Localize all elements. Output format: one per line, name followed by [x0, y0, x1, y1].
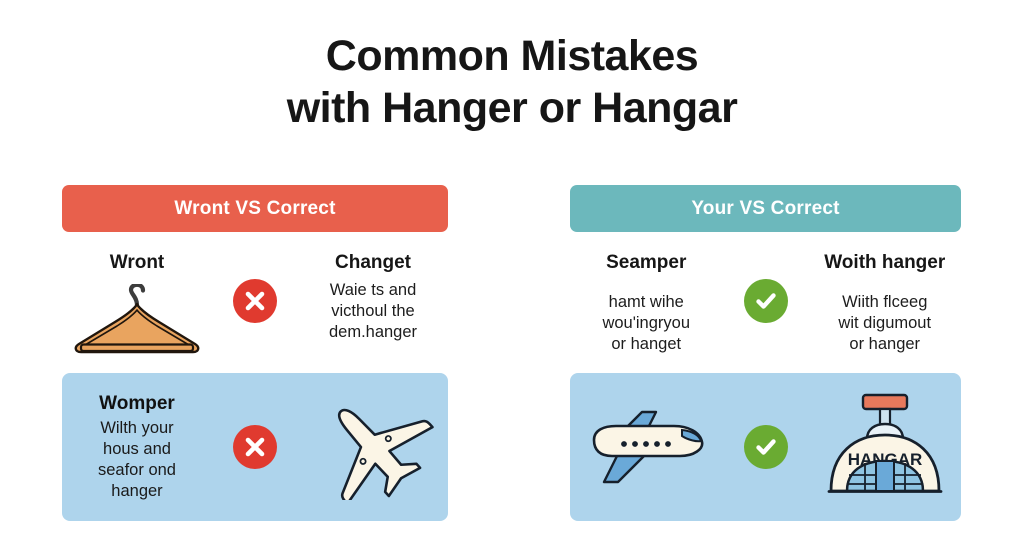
correct-blue-badge-slot — [723, 425, 809, 469]
seamper-heading: Seamper — [606, 252, 686, 274]
column-wrong: Wront VS Correct Wront — [62, 185, 448, 521]
changet-line-3: dem.hanger — [329, 322, 417, 343]
green-check-badge — [744, 425, 788, 469]
wrong-hanger-cell: Wront — [62, 234, 212, 358]
correct-top-badge-slot — [723, 234, 809, 367]
comparison-columns: Wront VS Correct Wront — [0, 185, 1024, 525]
column-correct: Your VS Correct Seamper hamt wihe wou'in… — [570, 185, 961, 521]
red-cross-badge — [233, 279, 277, 323]
womper-line-4: hanger — [98, 481, 176, 502]
column-header-wrong: Wront VS Correct — [62, 185, 448, 232]
page-title: Common Mistakes with Hanger or Hangar — [0, 30, 1024, 134]
hangar-building-icon: HANGAR — [827, 391, 943, 503]
airplane-side-icon — [582, 404, 710, 490]
woith-hanger-cell: Woith hanger Wiith flceeg wit digumout o… — [809, 234, 962, 355]
woith-hanger-heading: Woith hanger — [824, 252, 945, 274]
wrong-blue-card: Womper Wilth your hous and seafor ond ha… — [62, 373, 448, 521]
wrong-hanger-heading: Wront — [110, 252, 165, 274]
seamper-body: hamt wihe wou'ingryou or hanget — [602, 292, 690, 355]
title-line-2: with Hanger or Hangar — [0, 82, 1024, 134]
clothes-hanger-icon — [71, 284, 203, 358]
check-icon — [753, 434, 779, 460]
woith-line-3: or hanger — [838, 334, 931, 355]
infographic-page: Common Mistakes with Hanger or Hangar Wr… — [0, 0, 1024, 559]
seamper-line-1: hamt wihe — [602, 292, 690, 313]
hangar-building-cell: HANGAR — [809, 373, 962, 521]
woith-hanger-body: Wiith flceeg wit digumout or hanger — [838, 292, 931, 355]
womper-heading: Womper — [99, 393, 175, 415]
wrong-changet-cell: Changet Waie ts and victhoul the dem.han… — [298, 234, 448, 343]
green-check-badge — [744, 279, 788, 323]
womper-line-2: hous and — [98, 439, 176, 460]
womper-line-3: seafor ond — [98, 460, 176, 481]
changet-body: Waie ts and victhoul the dem.hanger — [329, 280, 417, 343]
red-cross-badge — [233, 425, 277, 469]
wrong-top-badge-slot — [212, 234, 298, 367]
correct-top-row: Seamper hamt wihe wou'ingryou or hanget — [570, 234, 961, 367]
cross-icon — [243, 435, 267, 459]
title-line-1: Common Mistakes — [0, 30, 1024, 82]
check-icon — [753, 288, 779, 314]
seamper-line-2: wou'ingryou — [602, 313, 690, 334]
column-header-correct: Your VS Correct — [570, 185, 961, 232]
correct-blue-card: HANGAR — [570, 373, 961, 521]
correct-airplane-cell — [570, 373, 723, 521]
changet-line-1: Waie ts and — [329, 280, 417, 301]
changet-heading: Changet — [335, 252, 411, 274]
wrong-airplane-cell — [298, 373, 448, 521]
wrong-top-row: Wront Changet — [62, 234, 448, 367]
changet-line-2: victhoul the — [329, 301, 417, 322]
seamper-cell: Seamper hamt wihe wou'ingryou or hanget — [570, 234, 723, 355]
woith-line-2: wit digumout — [838, 313, 931, 334]
womper-line-1: Wilth your — [98, 418, 176, 439]
woith-line-1: Wiith flceeg — [838, 292, 931, 313]
womper-body: Wilth your hous and seafor ond hanger — [98, 418, 176, 502]
airplane-diagonal-icon — [311, 395, 436, 500]
wrong-blue-badge-slot — [212, 425, 298, 469]
womper-text-cell: Womper Wilth your hous and seafor ond ha… — [62, 373, 212, 521]
seamper-line-3: or hanget — [602, 334, 690, 355]
cross-icon — [243, 289, 267, 313]
